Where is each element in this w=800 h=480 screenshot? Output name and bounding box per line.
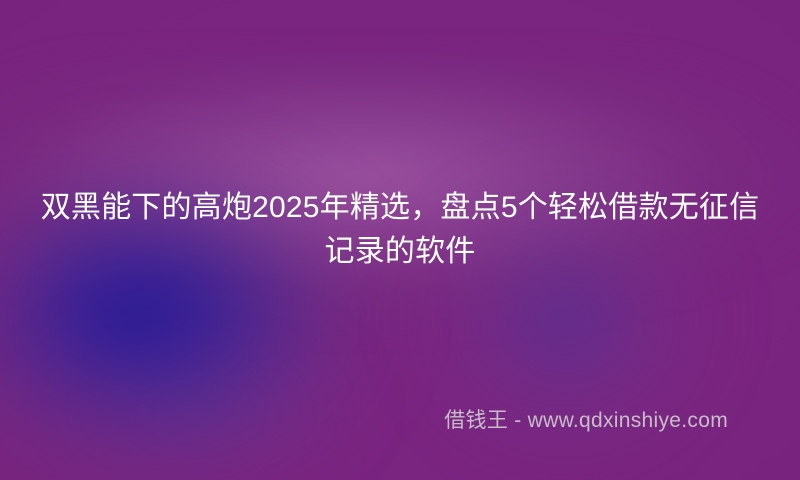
article-banner: 双黑能下的高炮2025年精选，盘点5个轻松借款无征信记录的软件 借钱王 - ww… — [0, 0, 800, 480]
background-glow-lowleft — [10, 330, 370, 480]
banner-headline: 双黑能下的高炮2025年精选，盘点5个轻松借款无征信记录的软件 — [0, 186, 800, 274]
background-glow-indigo — [0, 120, 420, 480]
banner-watermark: 借钱王 - www.qdxinshiye.com — [444, 408, 728, 434]
